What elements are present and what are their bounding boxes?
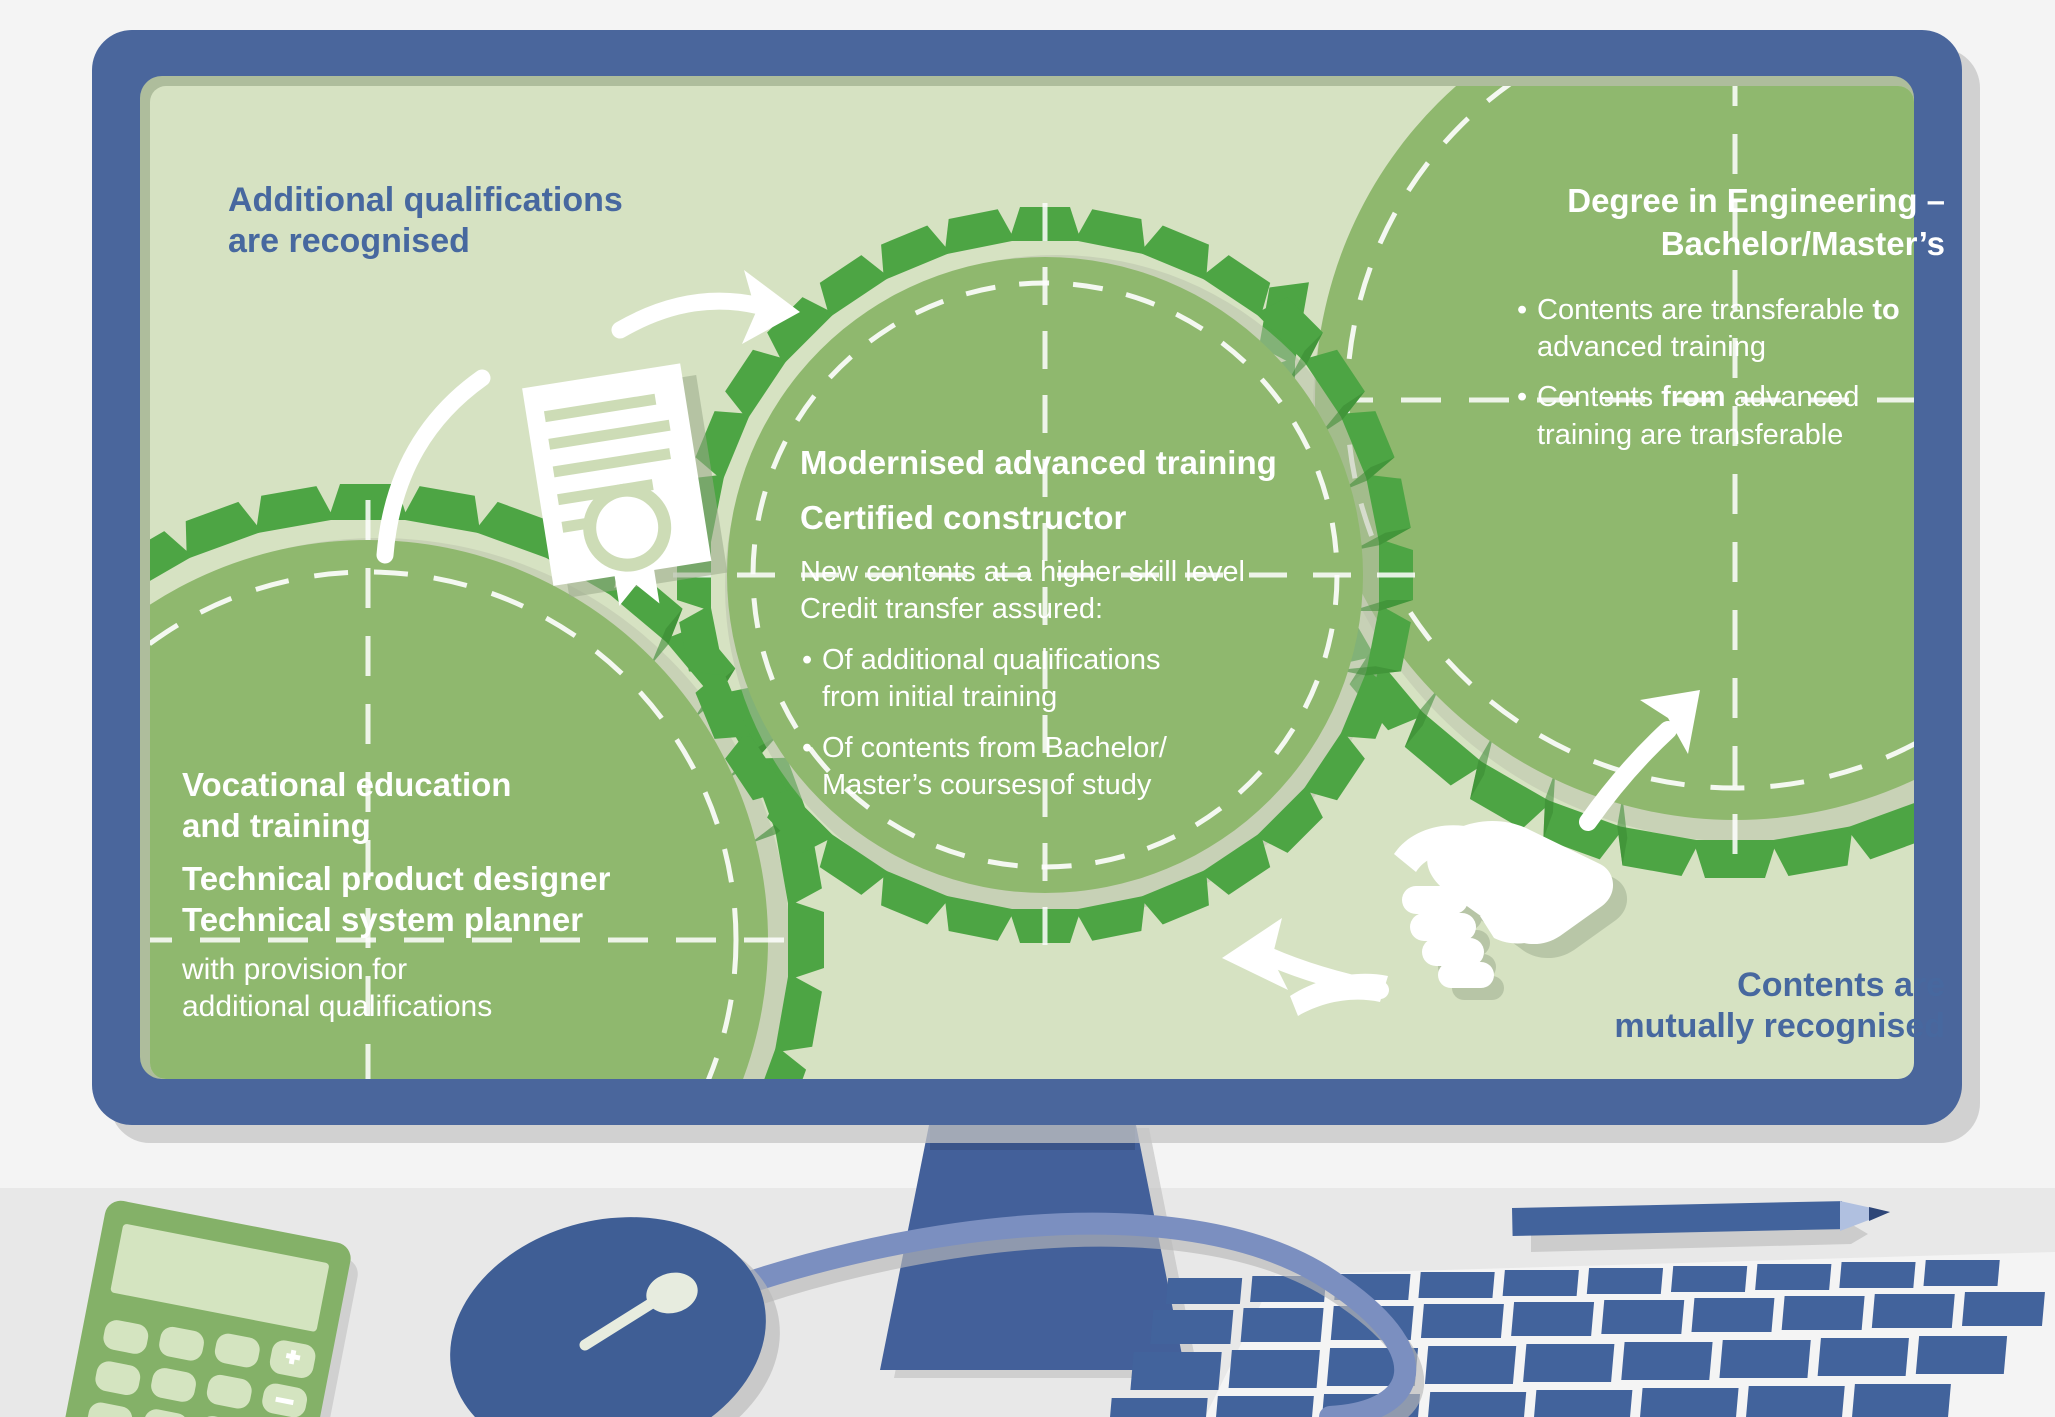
keyboard: [1108, 1252, 2055, 1417]
infographic-canvas: Additional qualifications are recognised…: [0, 0, 2055, 1417]
calculator: [48, 1198, 363, 1417]
pencil-wood: [1840, 1201, 1890, 1231]
desk-items-layer: [0, 0, 2055, 1417]
mouse-body: [424, 1185, 792, 1417]
computer-mouse: [424, 1185, 806, 1417]
pencil: [1512, 1201, 1890, 1252]
pencil-tip: [1869, 1207, 1890, 1221]
